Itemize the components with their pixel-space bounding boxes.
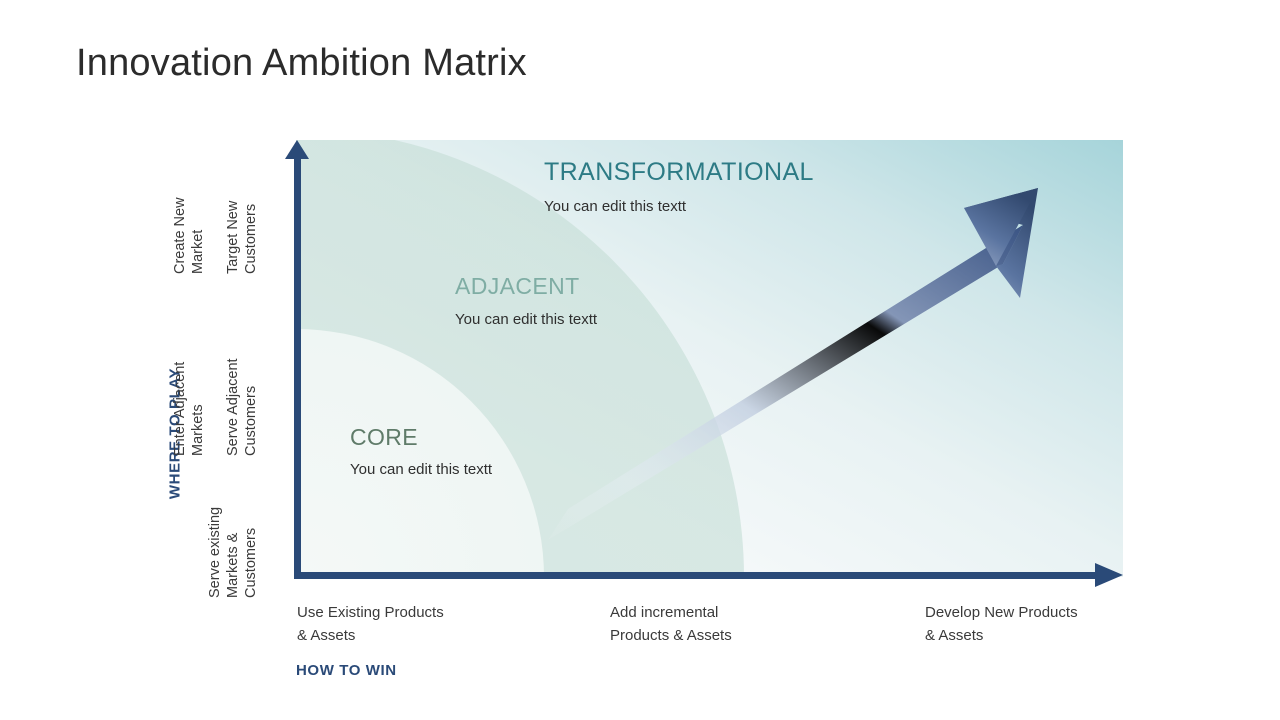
- zone-subtitle-core: You can edit this textt: [350, 461, 492, 478]
- matrix-plot-panel: TRANSFORMATIONAL You can edit this textt…: [296, 140, 1123, 577]
- y-axis-line: [294, 156, 301, 579]
- zone-subtitle-transformational: You can edit this textt: [544, 198, 686, 215]
- zone-title-core: CORE: [350, 424, 418, 451]
- x-axis-arrow-icon: [1095, 563, 1123, 587]
- x-axis-title: HOW TO WIN: [296, 662, 397, 679]
- y-tick-enter-adjacent-line-3: Serve Adjacent: [225, 358, 241, 456]
- y-tick-enter-adjacent-line-1: Enter Adjacent: [172, 362, 188, 456]
- y-tick-enter-adjacent-line-4: Customers: [243, 386, 259, 456]
- x-tick-develop-new-line-2: & Assets: [925, 624, 1078, 647]
- y-tick-create-new-line-4: Customers: [243, 204, 259, 274]
- x-tick-add-incremental-line-2: Products & Assets: [610, 624, 732, 647]
- x-tick-develop-new: Develop New Products & Assets: [925, 601, 1078, 647]
- zone-subtitle-adjacent: You can edit this textt: [455, 311, 597, 328]
- x-tick-use-existing-line-2: & Assets: [297, 624, 444, 647]
- page-title: Innovation Ambition Matrix: [76, 42, 527, 85]
- y-axis-arrow-icon: [285, 140, 309, 159]
- x-tick-add-incremental-line-1: Add incremental: [610, 601, 732, 624]
- y-tick-create-new-line-2: Market: [190, 230, 206, 274]
- y-tick-enter-adjacent-line-2: Markets: [190, 404, 206, 456]
- y-tick-create-new-line-1: Create New: [172, 197, 188, 274]
- x-tick-use-existing: Use Existing Products & Assets: [297, 601, 444, 647]
- zone-title-transformational: TRANSFORMATIONAL: [544, 158, 814, 187]
- x-tick-develop-new-line-1: Develop New Products: [925, 601, 1078, 624]
- y-tick-serve-existing-line-2: Markets &: [225, 533, 241, 598]
- diagonal-growth-arrow: [296, 140, 1123, 577]
- core-ring: [296, 329, 544, 577]
- x-tick-use-existing-line-1: Use Existing Products: [297, 601, 444, 624]
- zone-title-adjacent: ADJACENT: [455, 273, 580, 300]
- y-tick-serve-existing-line-3: Customers: [243, 528, 259, 598]
- x-tick-add-incremental: Add incremental Products & Assets: [610, 601, 732, 647]
- y-tick-create-new-line-3: Target New: [225, 201, 241, 274]
- x-axis-line: [294, 572, 1097, 579]
- y-tick-serve-existing-line-1: Serve existing: [207, 507, 223, 598]
